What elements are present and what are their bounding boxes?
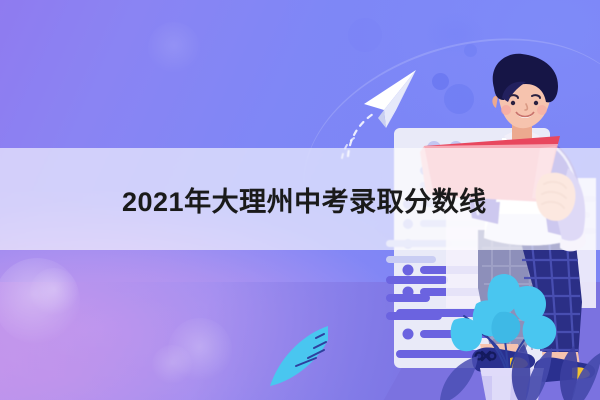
banner-image: 2021年大理州中考录取分数线 (0, 0, 600, 400)
accent-leaf-icon (264, 320, 336, 400)
page-title: 2021年大理州中考录取分数线 (122, 148, 487, 250)
accent-leaf-dark-icon (436, 350, 516, 400)
